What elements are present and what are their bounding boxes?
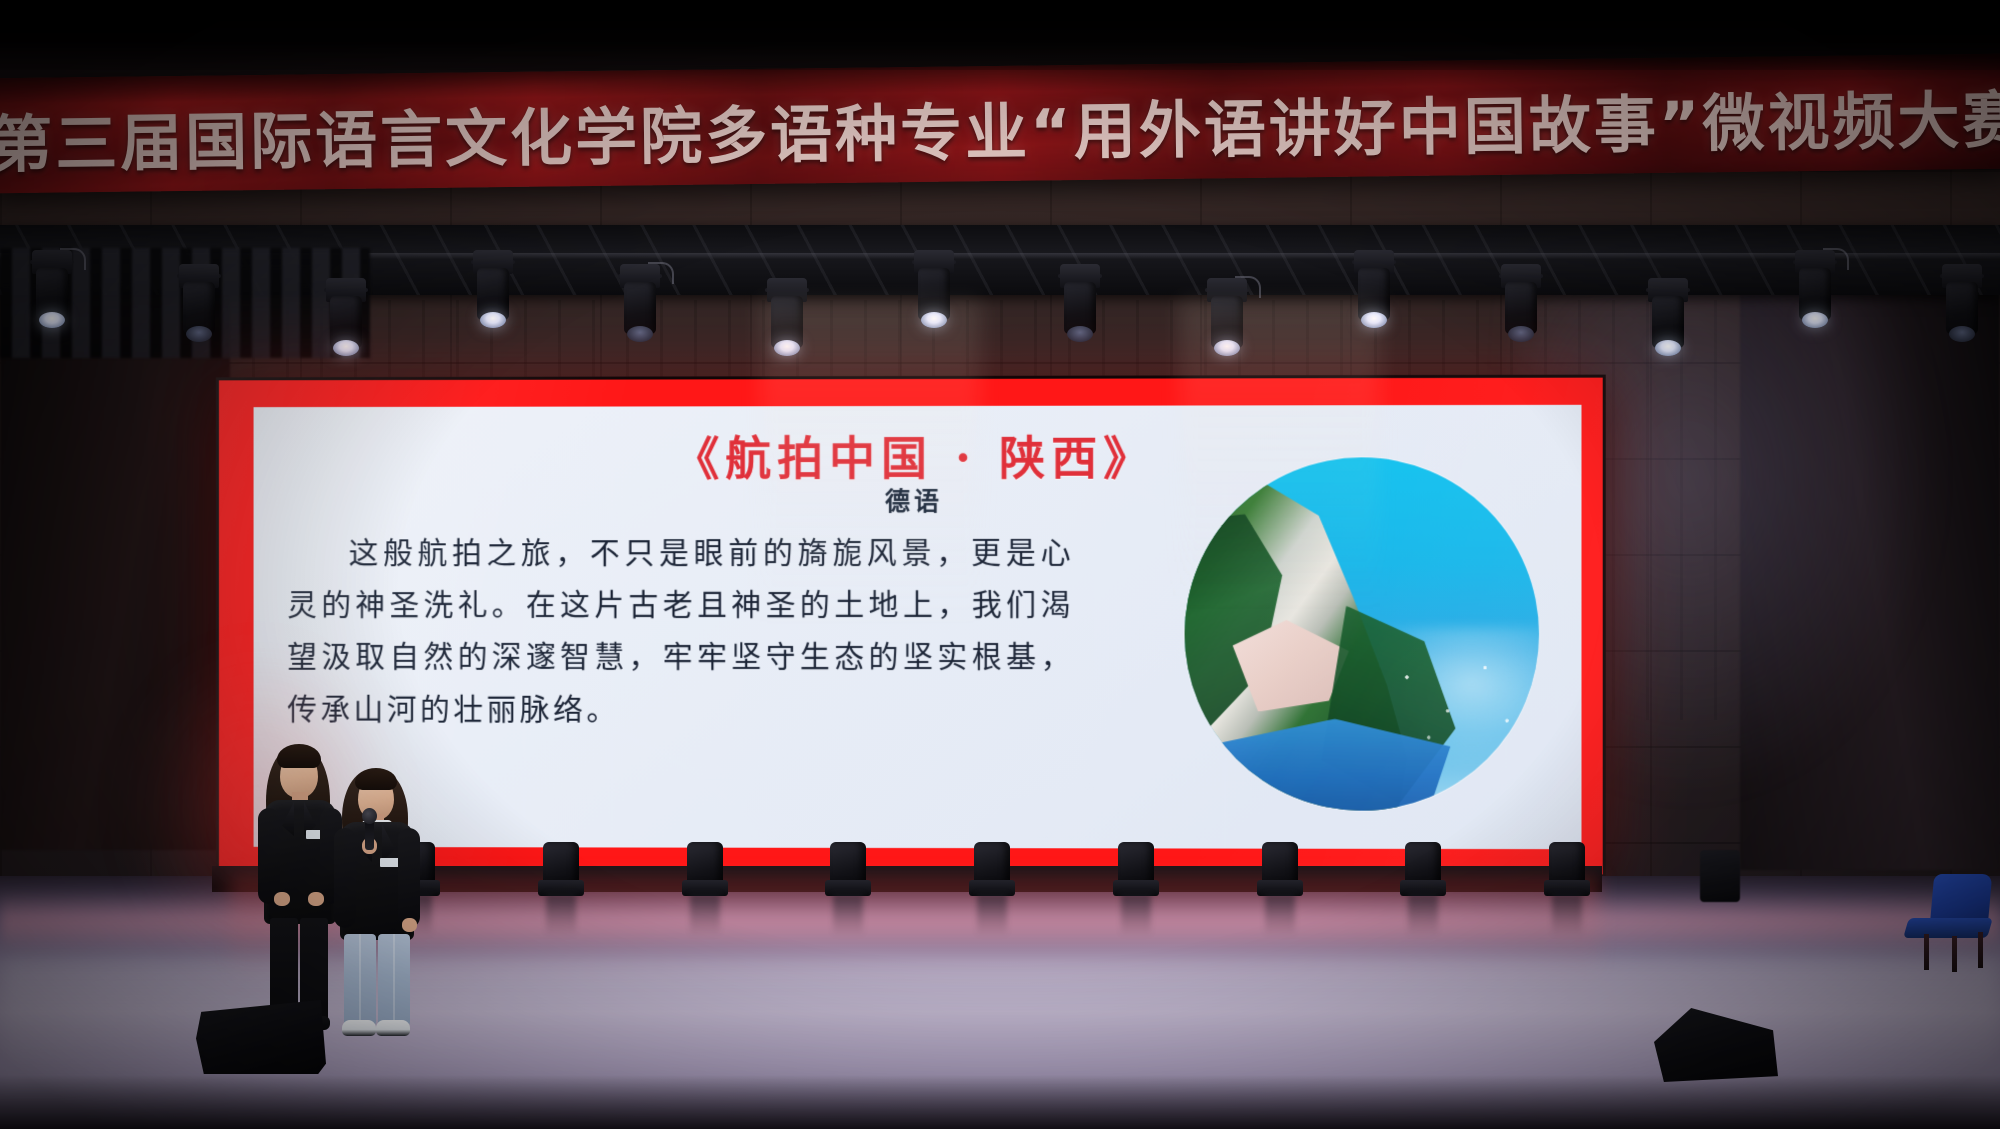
jeans-seam-left (359, 934, 361, 1026)
moving-head-light (534, 838, 588, 896)
jeans-seam-right (393, 934, 395, 1026)
presenter-left-hand-left (274, 892, 290, 906)
spotlight-lens (1949, 326, 1975, 342)
spotlight-lens (1802, 312, 1828, 328)
presenter-right (318, 766, 438, 1038)
moving-head-body (830, 842, 866, 884)
moving-head-light (1396, 838, 1450, 896)
moving-head-body (1262, 842, 1298, 884)
photo-cloud-specks (1376, 641, 1532, 761)
spotlight-lens (1214, 340, 1240, 356)
spotlight-fixture (765, 278, 809, 364)
spotlight-fixture (618, 264, 662, 350)
presenter-right-arm-right (398, 828, 420, 928)
event-banner: 第三届国际语言文化学院多语种专业“用外语讲好中国故事”微视频大赛 (0, 54, 2000, 194)
spotlight-lens (1067, 326, 1093, 342)
moving-head-light (821, 838, 875, 896)
spotlight-lens (480, 312, 506, 328)
moving-head-reflection (1408, 894, 1438, 936)
spotlight-fixture (1352, 250, 1396, 336)
spotlight-fixture (1646, 278, 1690, 364)
spotlight-fixture (1940, 264, 1984, 350)
slide-circular-photo (1185, 457, 1540, 811)
moving-head-reflection (833, 894, 863, 936)
moving-head-body (1405, 842, 1441, 884)
chair-leg-3 (1978, 932, 1983, 968)
spotlight-lens (39, 312, 65, 328)
chair-leg-2 (1952, 936, 1957, 972)
presenter-right-arm-left (334, 828, 356, 928)
spotlight-fixture (1058, 264, 1102, 350)
spotlight-lens (186, 326, 212, 342)
stage-chair (1902, 874, 1994, 970)
moving-head-light (1540, 838, 1594, 896)
spotlight-fixture (471, 250, 515, 336)
moving-head-body (543, 842, 579, 884)
presenter-right-jeans-left (344, 934, 376, 1026)
microphone-head (362, 808, 377, 824)
stage-scene: 第三届国际语言文化学院多语种专业“用外语讲好中国故事”微视频大赛 《航拍中国 ·… (0, 0, 2000, 1129)
spotlight-fixture (912, 250, 956, 336)
spotlight-cable (648, 262, 674, 284)
spotlight-fixture (1205, 278, 1249, 364)
presenter-left-hair-front (277, 744, 321, 768)
presenter-right-hair-front (355, 768, 397, 790)
moving-head-reflection (690, 894, 720, 936)
moving-head-body (1118, 842, 1154, 884)
moving-head-reflection (977, 894, 1007, 936)
spotlight-fixture (1793, 250, 1837, 336)
spotlight-lens (1655, 340, 1681, 356)
moving-head-body (687, 842, 723, 884)
spotlight-cable (1823, 248, 1849, 270)
moving-head-light (965, 838, 1019, 896)
stage-equipment-box (1700, 850, 1740, 902)
presenter-left-arm-left (258, 808, 280, 904)
floor-front-shadow (0, 1075, 2000, 1129)
spotlight-cable (1235, 276, 1261, 298)
chair-leg-1 (1924, 934, 1929, 970)
slide-body-text: 这般航拍之旅，不只是眼前的旖旎风景，更是心灵的神圣洗礼。在这片古老且神圣的土地上… (287, 528, 1074, 737)
moving-head-reflection (1121, 894, 1151, 936)
spotlight-fixture (30, 250, 74, 336)
presenter-right-shoe-left (342, 1020, 376, 1036)
spotlight-lens (627, 326, 653, 342)
presentation-slide: 《航拍中国 · 陕西》 德语 这般航拍之旅，不只是眼前的旖旎风景，更是心灵的神圣… (254, 405, 1582, 849)
spotlight-lens (1361, 312, 1387, 328)
moving-head-light (1109, 838, 1163, 896)
presenter-right-jeans-right (378, 934, 410, 1026)
spotlight-lens (1508, 326, 1534, 342)
moving-head-reflection (1265, 894, 1295, 936)
spotlight-lens (774, 340, 800, 356)
spotlight-fixture (177, 264, 221, 350)
spotlight-fixture (1499, 264, 1543, 350)
spotlight-cable (60, 248, 86, 270)
moving-head-body (974, 842, 1010, 884)
spotlight-lens (921, 312, 947, 328)
moving-head-light (678, 838, 732, 896)
moving-head-reflection (1552, 894, 1582, 936)
moving-head-light (1253, 838, 1307, 896)
moving-head-reflection (546, 894, 576, 936)
spotlight-fixture (324, 278, 368, 364)
ceiling-shadow (0, 0, 2000, 70)
presenter-right-hand-right (402, 918, 417, 932)
moving-head-body (1549, 842, 1585, 884)
spotlight-lens (333, 340, 359, 356)
presenter-right-shoe-right (376, 1020, 410, 1036)
microphone-body (365, 820, 374, 850)
stage-monitor-left (196, 1000, 326, 1074)
